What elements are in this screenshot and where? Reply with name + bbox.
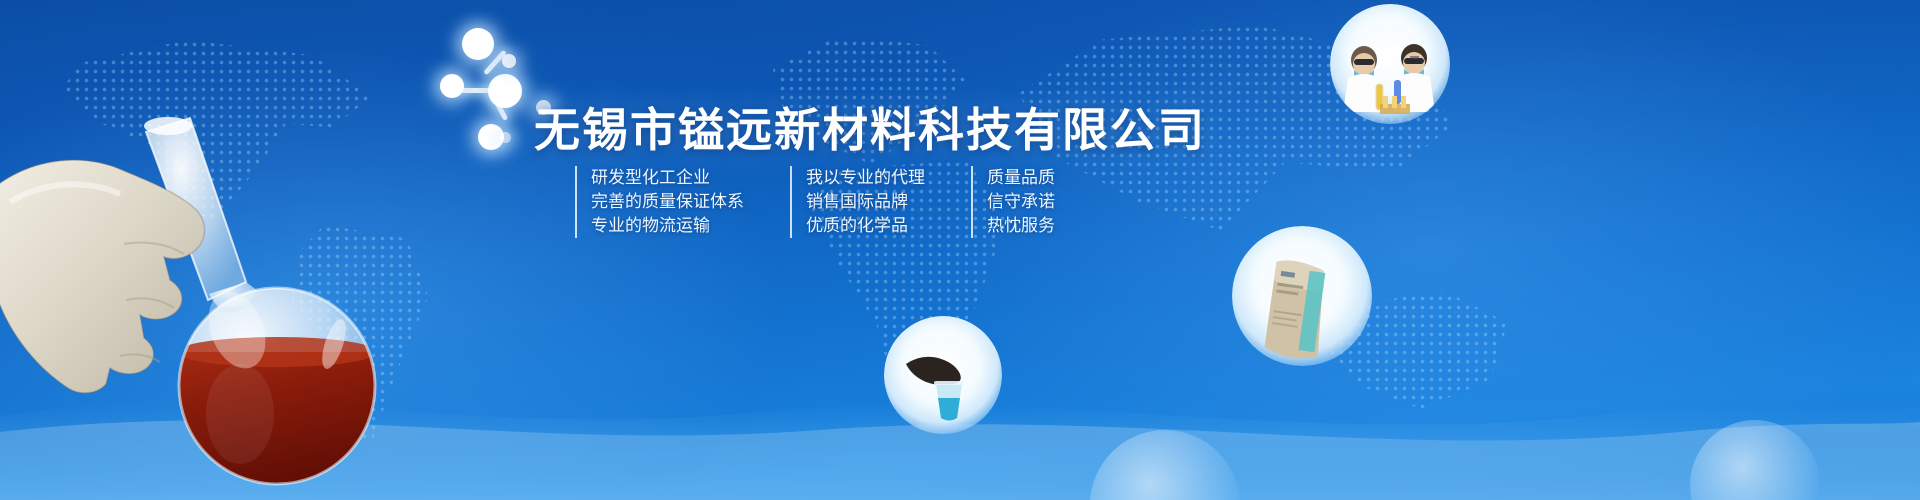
slogan-line: 我以专业的代理 (806, 166, 925, 190)
slogan-line: 信守承诺 (987, 190, 1055, 214)
slogan-line: 优质的化学品 (806, 214, 925, 238)
slogan-group: 研发型化工企业 完善的质量保证体系 专业的物流运输 我以专业的代理 销售国际品牌… (575, 166, 1101, 238)
slogan-line: 质量品质 (987, 166, 1055, 190)
chemical-sack-badge (1232, 226, 1372, 366)
flask-photo (0, 94, 414, 500)
slogan-line: 销售国际品牌 (806, 190, 925, 214)
light-bubble (1690, 420, 1820, 500)
page-title: 无锡市镒远新材料科技有限公司 (534, 94, 1206, 160)
slogan-column-3: 质量品质 信守承诺 热忱服务 (971, 166, 1055, 238)
light-bubble (1090, 430, 1240, 500)
slogan-line: 热忱服务 (987, 214, 1055, 238)
slogan-column-2: 我以专业的代理 销售国际品牌 优质的化学品 (790, 166, 925, 238)
slogan-line: 专业的物流运输 (591, 214, 744, 238)
slogan-column-1: 研发型化工企业 完善的质量保证体系 专业的物流运输 (575, 166, 744, 238)
slogan-line: 完善的质量保证体系 (591, 190, 744, 214)
company-banner: 无锡市镒远新材料科技有限公司 研发型化工企业 完善的质量保证体系 专业的物流运输… (0, 0, 1920, 500)
beaker-badge (884, 316, 1002, 434)
scientists-badge (1330, 4, 1450, 124)
slogan-line: 研发型化工企业 (591, 166, 744, 190)
